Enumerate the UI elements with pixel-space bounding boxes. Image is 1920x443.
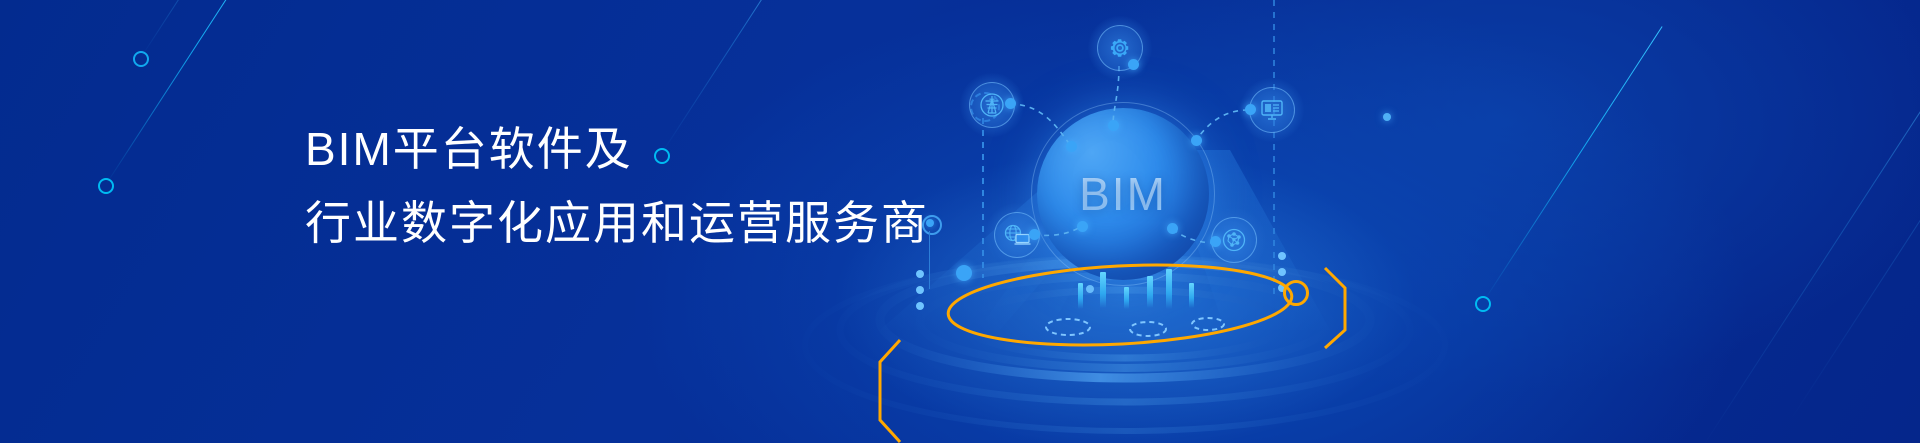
orbital-ring xyxy=(0,0,1920,443)
power-tower-icon xyxy=(979,92,1005,118)
data-bar-5 xyxy=(1166,269,1172,309)
connector-dot-lower-right xyxy=(1167,223,1178,234)
decorative-diagonal-line-1 xyxy=(105,0,269,186)
bracket-right xyxy=(0,0,1920,443)
data-bar-6 xyxy=(1189,283,1194,308)
marker-stem-upper xyxy=(982,118,984,278)
marker-dot-upper xyxy=(956,265,972,281)
connector-dot-top xyxy=(1108,120,1119,131)
decorative-diagonal-line-2 xyxy=(140,0,236,59)
connector-lines xyxy=(0,0,1920,443)
icon-dot-network xyxy=(1210,236,1221,247)
data-bar-1 xyxy=(1078,283,1083,309)
dot-column-right-2 xyxy=(1278,268,1286,276)
icon-dot-globe xyxy=(1029,229,1040,240)
dot-column-left-3 xyxy=(916,302,924,310)
marker-stem-left xyxy=(929,231,930,289)
icon-dot-monitor xyxy=(1245,104,1256,115)
globe-laptop-icon xyxy=(1002,223,1032,247)
headline: BIM平台软件及 行业数字化应用和运营服务商 xyxy=(305,112,929,260)
data-bar-3 xyxy=(1124,287,1129,309)
decorative-circle-1 xyxy=(98,178,114,194)
data-bar-4 xyxy=(1147,276,1153,308)
decorative-circle-2 xyxy=(133,51,149,67)
ground-rings xyxy=(0,0,1920,443)
gear-icon xyxy=(1108,36,1132,60)
dot-column-right-1 xyxy=(1278,252,1286,260)
decorative-circle-4 xyxy=(1475,296,1491,312)
monitor-icon xyxy=(1259,98,1285,122)
bubble-gear xyxy=(1088,16,1152,80)
data-bar-2 xyxy=(1100,272,1106,308)
icon-dot-gear xyxy=(1128,59,1139,70)
headline-line-1: BIM平台软件及 xyxy=(305,112,929,186)
stray-dot-2 xyxy=(1086,285,1094,293)
network-node-icon xyxy=(1221,227,1247,253)
sphere-label: BIM xyxy=(1037,108,1209,280)
icon-dot-tower xyxy=(1005,98,1016,109)
decorative-diagonal-line-4 xyxy=(1482,26,1663,303)
connector-dot-lower-left xyxy=(1077,221,1088,232)
hero-banner: BIM平台软件及 行业数字化应用和运营服务商 xyxy=(0,0,1920,443)
connector-dot-left xyxy=(1066,141,1077,152)
bracket-left xyxy=(0,0,1920,443)
dot-column-left-1 xyxy=(916,270,924,278)
bim-sphere: BIM xyxy=(1037,108,1209,280)
dot-column-left-2 xyxy=(916,286,924,294)
stray-dot-1 xyxy=(1383,113,1391,121)
marker-stem-vertical-right xyxy=(1273,0,1275,300)
marker-circle-yellow xyxy=(1283,280,1309,306)
light-beams xyxy=(0,0,1920,443)
connector-dot-right xyxy=(1191,135,1202,146)
headline-line-2: 行业数字化应用和运营服务商 xyxy=(305,186,929,260)
